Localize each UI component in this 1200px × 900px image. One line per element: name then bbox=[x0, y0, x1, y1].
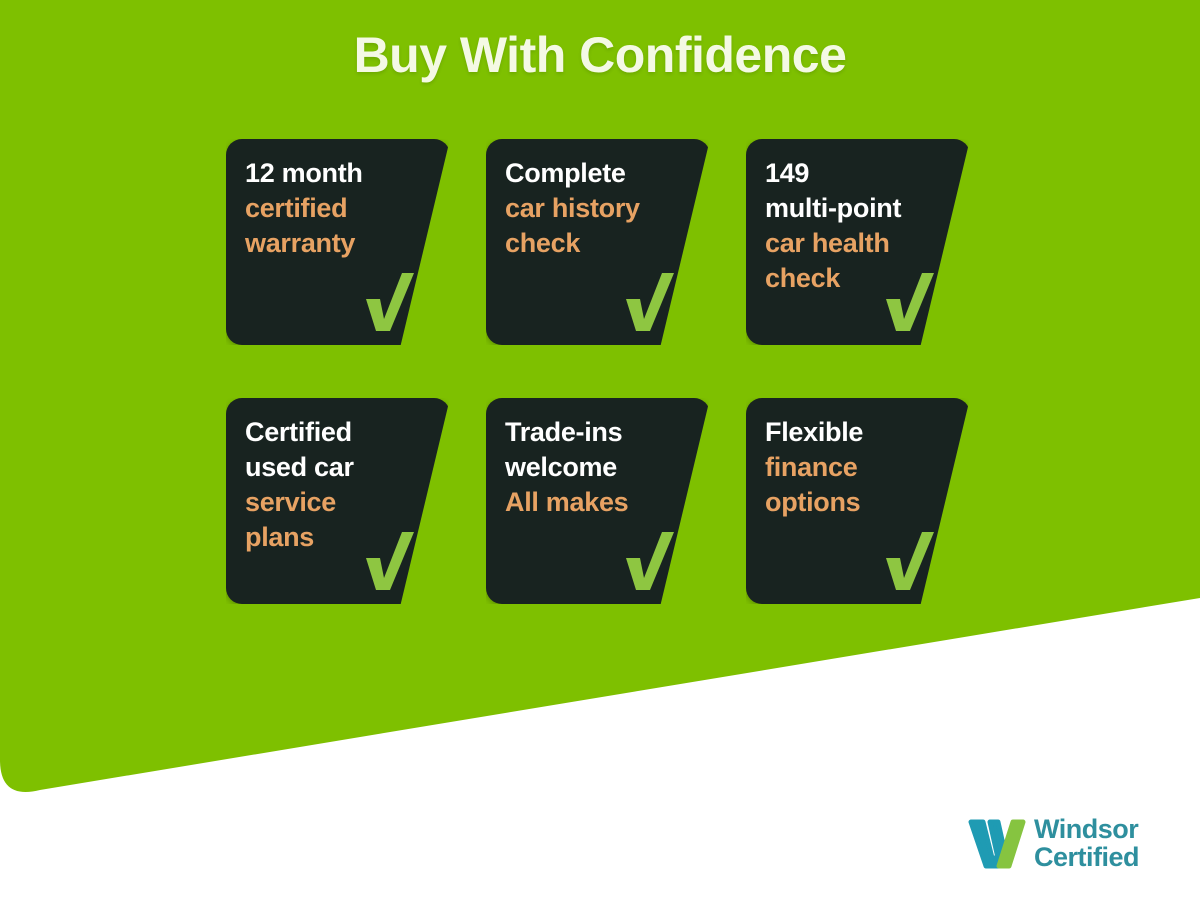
logo-line-certified: Certified bbox=[1034, 844, 1139, 872]
page-title: Buy With Confidence bbox=[0, 26, 1200, 84]
poster-canvas: Buy With Confidence 12 month certified w… bbox=[0, 0, 1200, 900]
feature-card-grid: 12 month certified warranty Complete car… bbox=[226, 139, 986, 604]
feature-card[interactable]: 149 multi-point car health check bbox=[746, 139, 970, 345]
windsor-w-mark-icon bbox=[968, 818, 1026, 870]
green-check-tick-icon bbox=[362, 271, 416, 333]
card-line-white: Flexible bbox=[765, 415, 940, 450]
card-line-orange: service bbox=[245, 485, 420, 520]
feature-card[interactable]: Flexible finance options bbox=[746, 398, 970, 604]
card-line-white: Certified bbox=[245, 415, 420, 450]
card-line-orange: finance bbox=[765, 450, 940, 485]
card-line-orange: warranty bbox=[245, 226, 420, 261]
card-line-white: 149 bbox=[765, 156, 940, 191]
card-line-orange: certified bbox=[245, 191, 420, 226]
card-line-white: welcome bbox=[505, 450, 680, 485]
green-check-tick-icon bbox=[882, 271, 936, 333]
green-check-tick-icon bbox=[622, 271, 676, 333]
feature-card[interactable]: Trade-ins welcome All makes bbox=[486, 398, 710, 604]
card-line-orange: car history bbox=[505, 191, 680, 226]
card-line-orange: check bbox=[505, 226, 680, 261]
card-line-white: Trade-ins bbox=[505, 415, 680, 450]
green-check-tick-icon bbox=[622, 530, 676, 592]
feature-card[interactable]: Complete car history check bbox=[486, 139, 710, 345]
card-line-white: 12 month bbox=[245, 156, 420, 191]
windsor-certified-logo[interactable]: Windsor Certified bbox=[968, 810, 1168, 878]
card-line-orange: options bbox=[765, 485, 940, 520]
green-check-tick-icon bbox=[362, 530, 416, 592]
logo-line-windsor: Windsor bbox=[1034, 816, 1139, 844]
card-line-white: multi-point bbox=[765, 191, 940, 226]
card-text-block: 12 month certified warranty bbox=[245, 156, 420, 261]
card-text-block: Flexible finance options bbox=[765, 415, 940, 520]
card-line-white: Complete bbox=[505, 156, 680, 191]
feature-card[interactable]: Certified used car service plans bbox=[226, 398, 450, 604]
card-line-white: used car bbox=[245, 450, 420, 485]
logo-wordmark: Windsor Certified bbox=[1034, 816, 1139, 871]
green-check-tick-icon bbox=[882, 530, 936, 592]
card-line-orange: car health bbox=[765, 226, 940, 261]
card-text-block: Complete car history check bbox=[505, 156, 680, 261]
feature-card[interactable]: 12 month certified warranty bbox=[226, 139, 450, 345]
card-line-orange: All makes bbox=[505, 485, 680, 520]
card-text-block: Trade-ins welcome All makes bbox=[505, 415, 680, 520]
